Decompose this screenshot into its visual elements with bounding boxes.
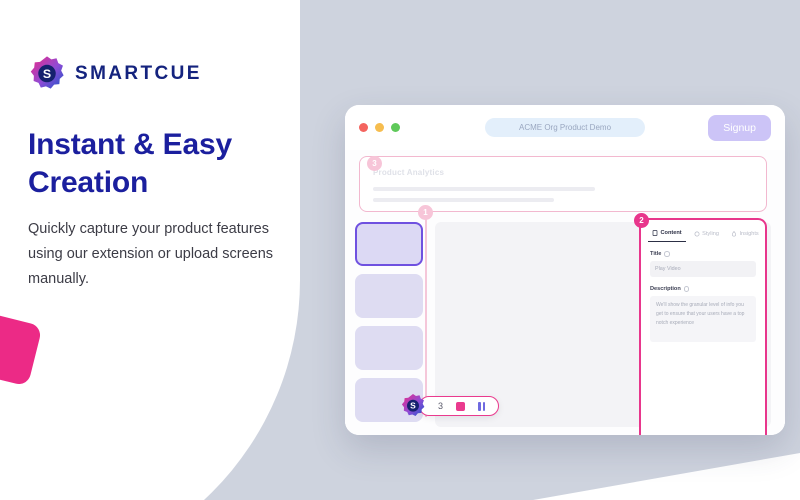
- tab-insights[interactable]: Insights: [727, 228, 763, 242]
- tab-insights-label: Insights: [739, 231, 758, 237]
- recorder-controls: 3: [419, 396, 499, 416]
- green-dot-icon[interactable]: [391, 123, 400, 132]
- brand-wordmark: SMARTCUE: [75, 63, 202, 85]
- step-badge-1[interactable]: 1: [418, 205, 433, 220]
- page-title: Instant & Easy Creation: [28, 126, 288, 203]
- info-icon[interactable]: [664, 251, 670, 257]
- mockup-titlebar: ACME Org Product Demo Signup: [345, 105, 785, 150]
- step-badge-3[interactable]: 3: [367, 156, 382, 171]
- svg-text:S: S: [410, 401, 416, 411]
- tab-content[interactable]: Content: [648, 227, 686, 242]
- pause-bars-icon[interactable]: [478, 402, 485, 411]
- info-icon[interactable]: [684, 286, 690, 292]
- description-textarea[interactable]: We'll show the granular level of info yo…: [650, 296, 756, 342]
- smartcue-burst-icon: S: [28, 55, 66, 93]
- url-bar[interactable]: ACME Org Product Demo: [485, 118, 645, 137]
- poster-canvas: S SMARTCUE Instant & Easy Creation Quick…: [0, 0, 800, 500]
- hero-subcopy: Quickly capture your product features us…: [28, 217, 278, 292]
- thumbnail-item[interactable]: [355, 274, 423, 318]
- flame-icon: [731, 231, 737, 237]
- analytics-heading: Product Analytics: [373, 168, 444, 177]
- traffic-lights: [359, 123, 400, 132]
- tab-styling-label: Styling: [702, 231, 719, 237]
- title-label-text: Title: [650, 251, 661, 257]
- thumbnail-item-selected[interactable]: [355, 222, 423, 266]
- browser-mockup: ACME Org Product Demo Signup 3 Product A…: [345, 105, 785, 435]
- stop-square-icon[interactable]: [456, 402, 465, 411]
- svg-text:S: S: [43, 67, 51, 81]
- thumbnail-item[interactable]: [355, 326, 423, 370]
- cue-editor-panel: 2 Content Styling Insights: [639, 218, 767, 435]
- editor-tabs: Content Styling Insights: [641, 220, 765, 242]
- description-field-label: Description: [650, 286, 765, 292]
- recorder-toolbar: S 3: [400, 393, 499, 419]
- signup-button[interactable]: Signup: [708, 115, 771, 141]
- brush-icon: [694, 231, 700, 237]
- yellow-dot-icon[interactable]: [375, 123, 384, 132]
- recorder-step-count: 3: [438, 401, 443, 411]
- tab-content-label: Content: [661, 230, 682, 236]
- callout-connector: [425, 212, 427, 417]
- mockup-content: 3 Product Analytics 1: [345, 150, 785, 435]
- red-dot-icon[interactable]: [359, 123, 368, 132]
- smartcue-badge-icon[interactable]: S: [400, 393, 426, 419]
- hero-column: S SMARTCUE Instant & Easy Creation Quick…: [28, 55, 328, 292]
- title-field-label: Title: [650, 251, 765, 257]
- description-label-text: Description: [650, 286, 681, 292]
- brand-logo[interactable]: S SMARTCUE: [28, 55, 328, 93]
- title-input[interactable]: Play Video: [650, 261, 756, 277]
- document-icon: [652, 230, 658, 236]
- placeholder-line: [373, 187, 595, 191]
- step-badge-2[interactable]: 2: [634, 213, 649, 228]
- product-analytics-panel[interactable]: 3 Product Analytics: [359, 156, 767, 212]
- tab-styling[interactable]: Styling: [690, 228, 723, 242]
- placeholder-line: [373, 198, 554, 202]
